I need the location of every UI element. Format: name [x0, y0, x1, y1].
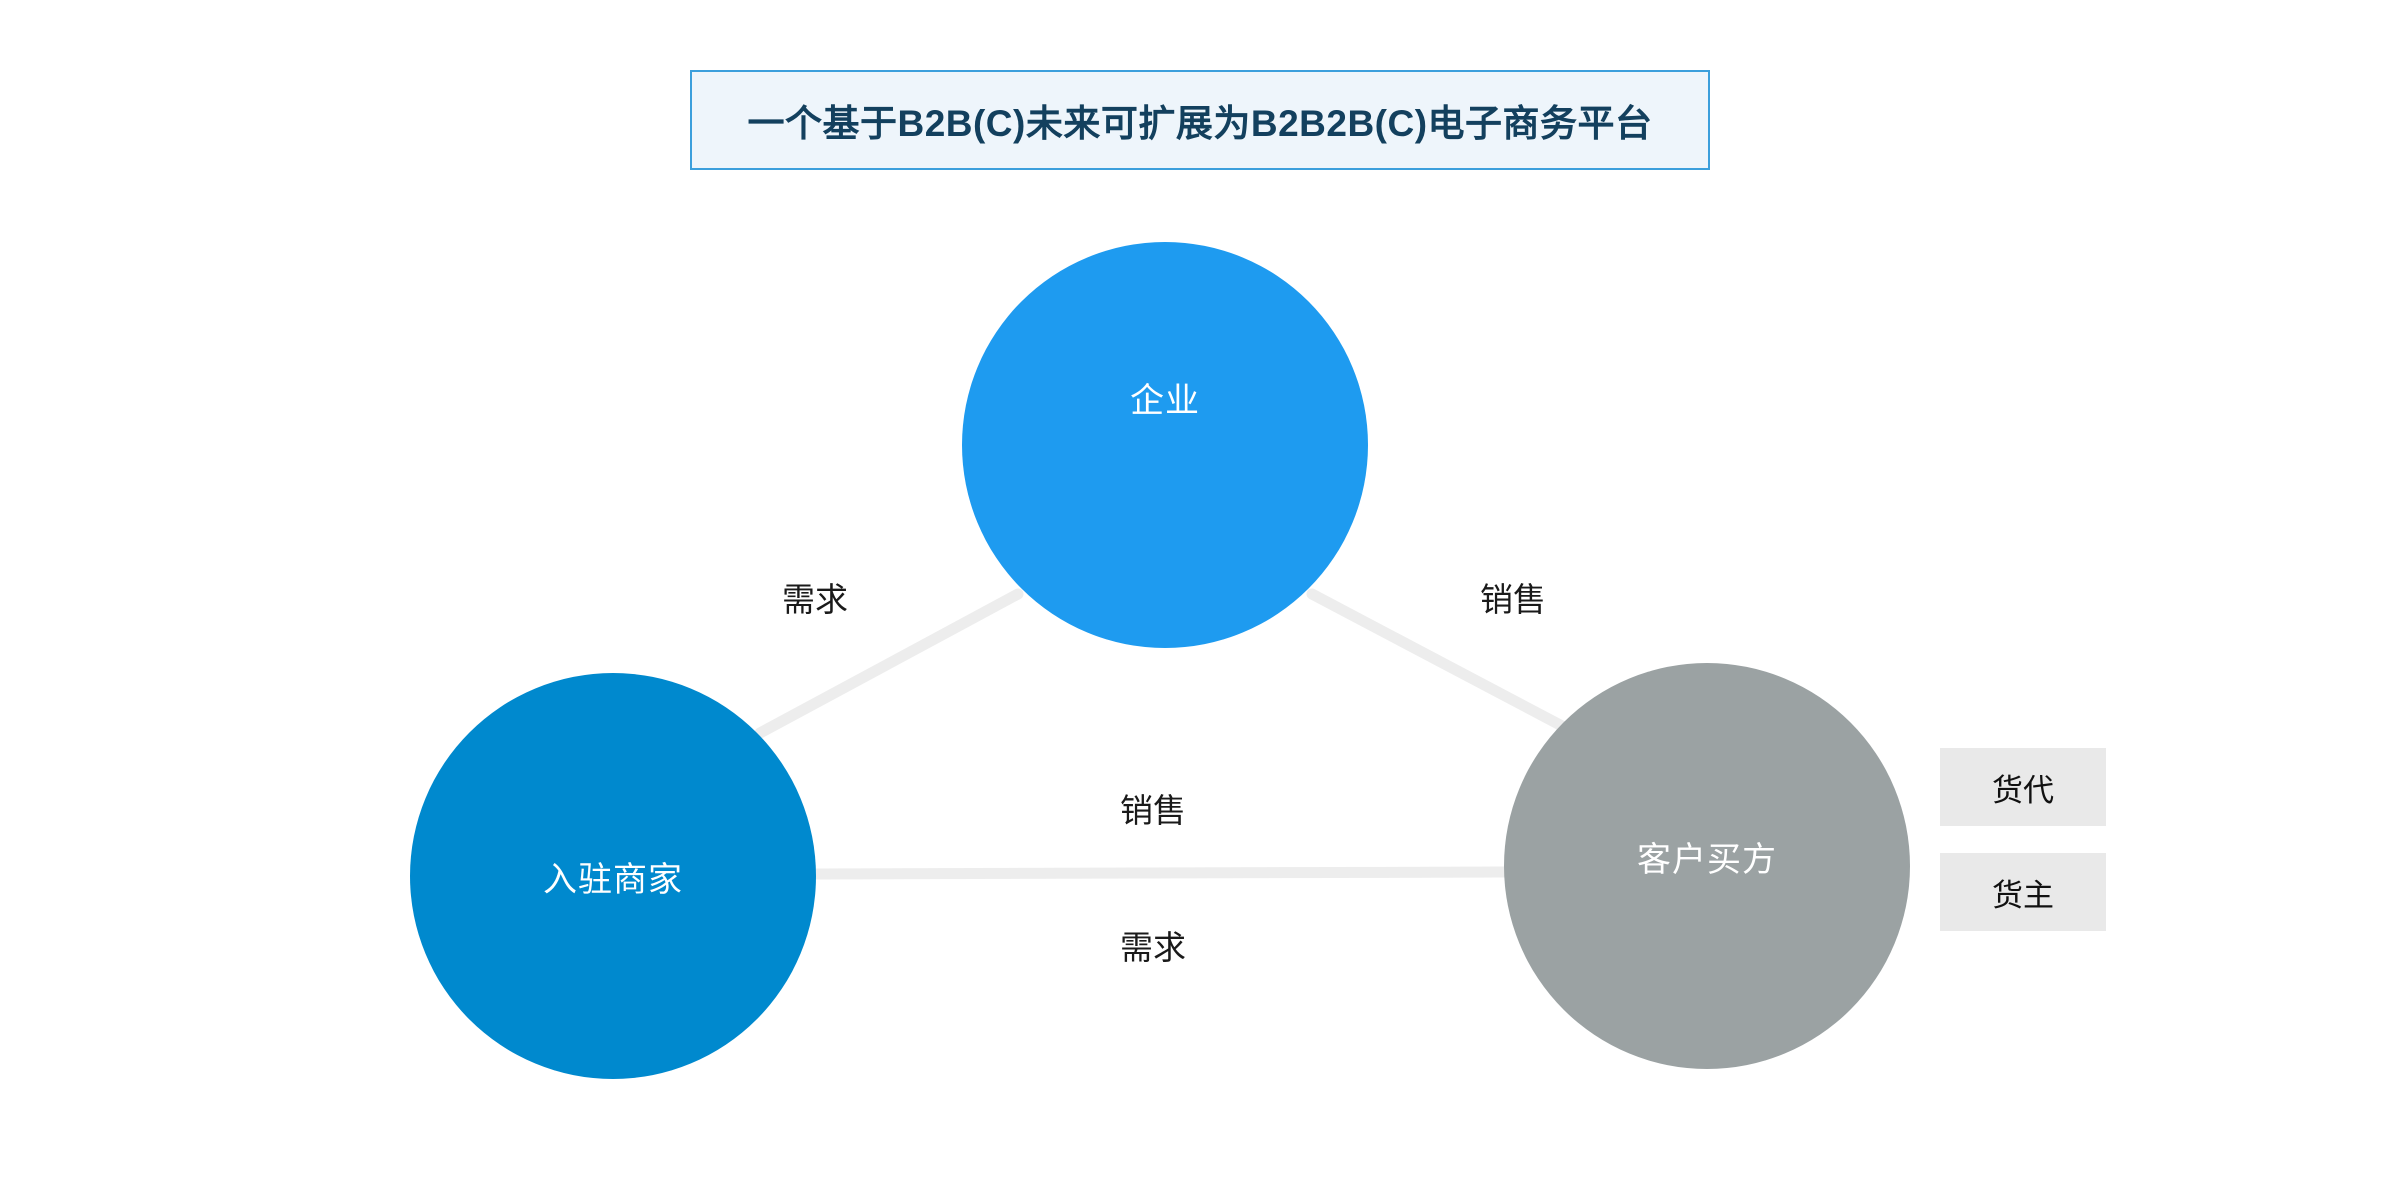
- node-buyer-label: 客户买方: [1637, 832, 1777, 881]
- tag-owner-label: 货主: [1992, 870, 2054, 915]
- edge-label-merchant-buyer-sales: 销售: [1120, 784, 1186, 832]
- tag-forwarder[interactable]: 货代: [1940, 748, 2106, 826]
- node-enterprise[interactable]: 企业: [962, 242, 1368, 648]
- node-merchant-label: 入驻商家: [543, 852, 683, 901]
- diagram-canvas: 一个基于B2B(C)未来可扩展为B2B2B(C)电子商务平台 企业 入驻商家 客…: [0, 0, 2400, 1196]
- tag-owner[interactable]: 货主: [1940, 853, 2106, 931]
- node-enterprise-label: 企业: [1130, 373, 1200, 422]
- edge-label-merchant-buyer-demand: 需求: [1120, 921, 1186, 969]
- edge-merchant-buyer: [815, 872, 1506, 874]
- tag-forwarder-label: 货代: [1992, 765, 2054, 810]
- edge-label-merchant-enterprise: 需求: [782, 573, 848, 621]
- node-buyer[interactable]: 客户买方: [1504, 663, 1910, 1069]
- node-merchant[interactable]: 入驻商家: [410, 673, 816, 1079]
- edge-label-enterprise-buyer: 销售: [1480, 573, 1546, 621]
